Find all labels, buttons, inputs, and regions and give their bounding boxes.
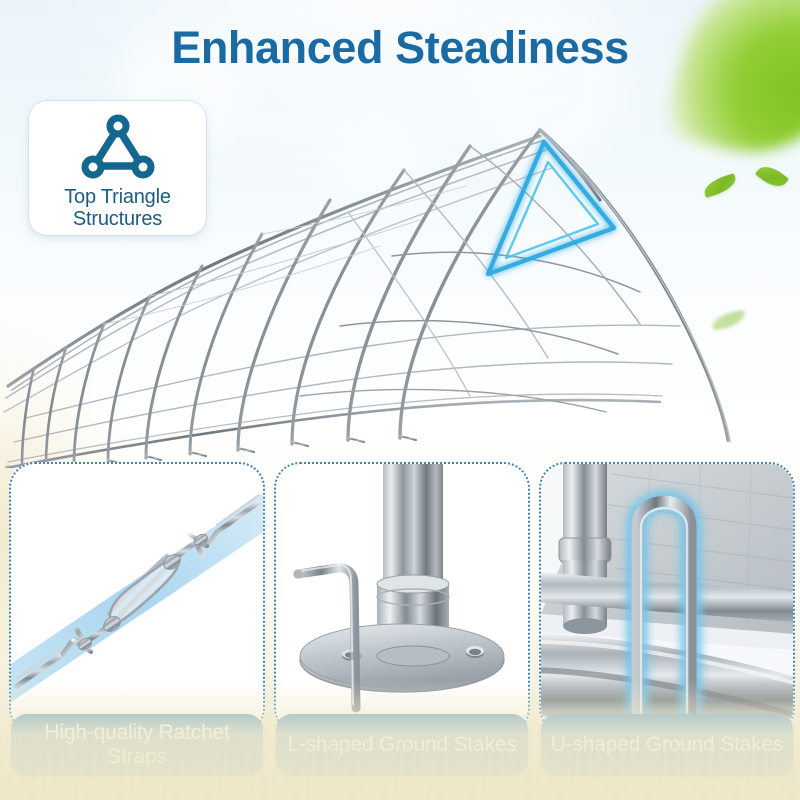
badge-label-line1: Top Triangle — [64, 186, 171, 208]
triangle-nodes-icon — [76, 112, 160, 182]
badge-label: Top Triangle Structures — [64, 186, 171, 230]
background-bottom-texture — [0, 730, 800, 800]
infographic-canvas: Enhanced Steadiness — [0, 0, 800, 800]
top-triangle-highlight-icon — [488, 142, 614, 274]
page-title: Enhanced Steadiness — [0, 22, 800, 74]
badge-label-line2: Structures — [64, 208, 171, 230]
top-triangle-badge[interactable]: Top Triangle Structures — [29, 101, 206, 235]
